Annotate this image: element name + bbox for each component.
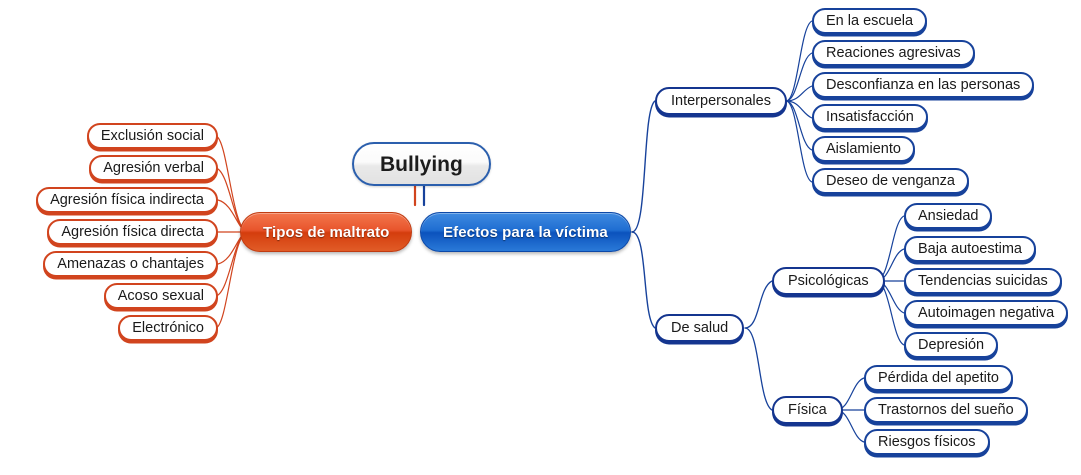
leaf-reaciones-agresivas[interactable]: Reaciones agresivas bbox=[812, 40, 975, 66]
leaf-deseo-de-venganza[interactable]: Deseo de venganza bbox=[812, 168, 969, 194]
leaf-label: Exclusión social bbox=[101, 129, 204, 144]
branch-label: Interpersonales bbox=[671, 94, 771, 109]
mindmap-canvas: Bullying Tipos de maltrato Exclusión soc… bbox=[0, 0, 1081, 475]
leaf-label: En la escuela bbox=[826, 14, 913, 29]
leaf-agresion-fisica-indirecta[interactable]: Agresión física indirecta bbox=[36, 187, 218, 213]
leaf-en-la-escuela[interactable]: En la escuela bbox=[812, 8, 927, 34]
category-efectos-para-la-victima[interactable]: Efectos para la víctima bbox=[420, 212, 631, 252]
leaf-riesgos-fisicos[interactable]: Riesgos físicos bbox=[864, 429, 990, 455]
leaf-autoimagen-negativa[interactable]: Autoimagen negativa bbox=[904, 300, 1068, 326]
leaf-label: Amenazas o chantajes bbox=[57, 257, 204, 272]
category-tipos-de-maltrato[interactable]: Tipos de maltrato bbox=[240, 212, 412, 252]
branch-label: Psicológicas bbox=[788, 274, 869, 289]
leaf-label: Acoso sexual bbox=[118, 289, 204, 304]
leaf-label: Insatisfacción bbox=[826, 110, 914, 125]
root-label: Bullying bbox=[380, 154, 463, 175]
branch-label: De salud bbox=[671, 321, 728, 336]
leaf-desconfianza-en-las-personas[interactable]: Desconfianza en las personas bbox=[812, 72, 1034, 98]
category-label: Efectos para la víctima bbox=[443, 225, 608, 240]
leaf-acoso-sexual[interactable]: Acoso sexual bbox=[104, 283, 218, 309]
leaf-tendencias-suicidas[interactable]: Tendencias suicidas bbox=[904, 268, 1062, 294]
leaf-label: Ansiedad bbox=[918, 209, 978, 224]
branch-interpersonales[interactable]: Interpersonales bbox=[655, 87, 787, 115]
leaf-label: Autoimagen negativa bbox=[918, 306, 1054, 321]
leaf-insatisfaccion[interactable]: Insatisfacción bbox=[812, 104, 928, 130]
leaf-label: Electrónico bbox=[132, 321, 204, 336]
branch-label: Física bbox=[788, 403, 827, 418]
leaf-ansiedad[interactable]: Ansiedad bbox=[904, 203, 992, 229]
leaf-aislamiento[interactable]: Aislamiento bbox=[812, 136, 915, 162]
branch-de-salud[interactable]: De salud bbox=[655, 314, 744, 342]
leaf-label: Agresión verbal bbox=[103, 161, 204, 176]
leaf-label: Riesgos físicos bbox=[878, 435, 976, 450]
root-node-bullying[interactable]: Bullying bbox=[352, 142, 491, 186]
leaf-label: Depresión bbox=[918, 338, 984, 353]
leaf-baja-autoestima[interactable]: Baja autoestima bbox=[904, 236, 1036, 262]
branch-psicologicas[interactable]: Psicológicas bbox=[772, 267, 885, 295]
leaf-electronico[interactable]: Electrónico bbox=[118, 315, 218, 341]
leaf-label: Reaciones agresivas bbox=[826, 46, 961, 61]
leaf-label: Agresión física directa bbox=[61, 225, 204, 240]
leaf-perdida-del-apetito[interactable]: Pérdida del apetito bbox=[864, 365, 1013, 391]
leaf-label: Baja autoestima bbox=[918, 242, 1022, 257]
category-label: Tipos de maltrato bbox=[263, 225, 389, 240]
leaf-trastornos-del-sueno[interactable]: Trastornos del sueño bbox=[864, 397, 1028, 423]
leaf-label: Trastornos del sueño bbox=[878, 403, 1014, 418]
leaf-agresion-fisica-directa[interactable]: Agresión física directa bbox=[47, 219, 218, 245]
leaf-label: Aislamiento bbox=[826, 142, 901, 157]
leaf-depresion[interactable]: Depresión bbox=[904, 332, 998, 358]
leaf-exclusion-social[interactable]: Exclusión social bbox=[87, 123, 218, 149]
leaf-agresion-verbal[interactable]: Agresión verbal bbox=[89, 155, 218, 181]
leaf-label: Desconfianza en las personas bbox=[826, 78, 1020, 93]
leaf-label: Agresión física indirecta bbox=[50, 193, 204, 208]
branch-fisica[interactable]: Física bbox=[772, 396, 843, 424]
leaf-label: Tendencias suicidas bbox=[918, 274, 1048, 289]
leaf-label: Deseo de venganza bbox=[826, 174, 955, 189]
leaf-label: Pérdida del apetito bbox=[878, 371, 999, 386]
leaf-amenazas-o-chantajes[interactable]: Amenazas o chantajes bbox=[43, 251, 218, 277]
